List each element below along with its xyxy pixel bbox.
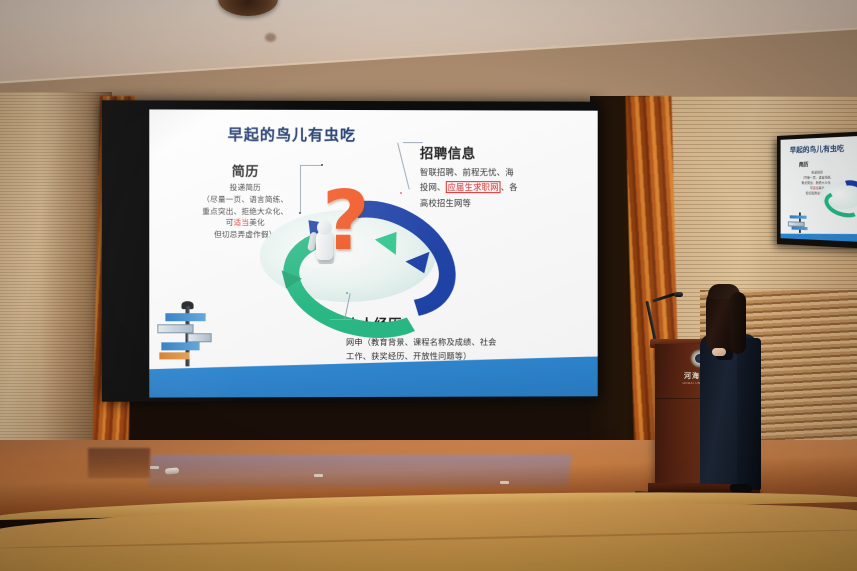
- signpost-arrow-orange: [159, 352, 189, 359]
- column-heading-resume: 简历: [177, 162, 313, 182]
- connector-dot-resume-bottom: [299, 212, 301, 214]
- monitor-signpost-icon: [790, 212, 811, 233]
- ceiling-mark: [265, 33, 276, 42]
- speaker-hand: [712, 348, 726, 356]
- projection-screen[interactable]: 早起的鸟儿有虫吃 简历 投递简历 （尽量一页、语言简练、 重点突出、拒绝大众化、…: [102, 100, 599, 401]
- floor-marker: [500, 481, 509, 484]
- speaker-coat: [737, 338, 761, 490]
- signpost-icon: [165, 306, 209, 366]
- jobs-line-2: 投网、应届生求职网、各: [420, 181, 579, 197]
- signpost-arrow-blue-1: [165, 313, 205, 321]
- slide-notch-lower: [149, 142, 165, 164]
- connector-line-jobs-h: [403, 142, 423, 143]
- slide-notch: [149, 109, 196, 141]
- resume-accent-text: 适当: [234, 218, 250, 227]
- auditorium-scene: 早起的鸟儿有虫吃 简历 投递简历 （尽量一页、语言简练、 重点突出、拒绝大众化、…: [0, 0, 857, 571]
- connector-line-resume-h: [300, 165, 322, 166]
- column-body-jobs: 智联招聘、前程无忧、海 投网、应届生求职网、各 高校招生网等: [420, 165, 579, 212]
- jobs-line-3: 高校招生网等: [420, 196, 579, 212]
- monitor-heading: 简历: [799, 161, 808, 168]
- slide-title: 早起的鸟儿有虫吃: [228, 124, 356, 145]
- column-heading-jobs: 招聘信息: [420, 144, 579, 165]
- connector-dot-resume-top: [321, 164, 323, 166]
- connector-dot-jobs: [400, 192, 402, 194]
- monitor-slide: 早起的鸟儿有虫吃 简历 投递简历 （尽量一页、语言简练、 重点突出、拒绝大众化、…: [781, 136, 857, 242]
- signpost-arrow-white-2: [188, 333, 212, 342]
- jobs-accent-box: 应届生求职网: [446, 182, 501, 194]
- speaker-hair-right: [730, 292, 746, 354]
- monitor-slide-title: 早起的鸟儿有虫吃: [790, 143, 844, 155]
- floor-marker: [150, 466, 159, 469]
- connector-line-resume-v: [300, 165, 301, 213]
- question-mark-icon: ?: [322, 186, 370, 258]
- jobs-line-1: 智联招聘、前程无忧、海: [420, 165, 579, 181]
- presentation-slide: 早起的鸟儿有虫吃 简历 投递简历 （尽量一页、语言简练、 重点突出、拒绝大众化、…: [149, 109, 597, 397]
- slide-bottom-banner: [149, 356, 597, 398]
- monitor-bottom-banner: [781, 234, 857, 242]
- slide-column-jobs: 招聘信息 智联招聘、前程无忧、海 投网、应届生求职网、各 高校招生网等: [420, 144, 579, 212]
- signpost-arrow-blue-2: [161, 342, 199, 350]
- microphone-icon: [674, 292, 683, 297]
- monitor-signpost-arrow-3: [792, 227, 808, 231]
- connector-dot-exp: [346, 292, 348, 294]
- speaker-shoe: [730, 484, 752, 492]
- connector-line-exp-h: [330, 319, 352, 320]
- monitor-signpost-arrow-1: [790, 215, 807, 218]
- signpost-arrow-white-1: [157, 324, 193, 333]
- floor-marker: [314, 474, 323, 477]
- confidence-monitor[interactable]: 早起的鸟儿有虫吃 简历 投递简历 （尽量一页、语言简练、 重点突出、拒绝大众化、…: [777, 131, 857, 248]
- resume-line-4-pre: 可: [226, 218, 234, 227]
- jobs-line-2-post: 、各: [501, 183, 518, 193]
